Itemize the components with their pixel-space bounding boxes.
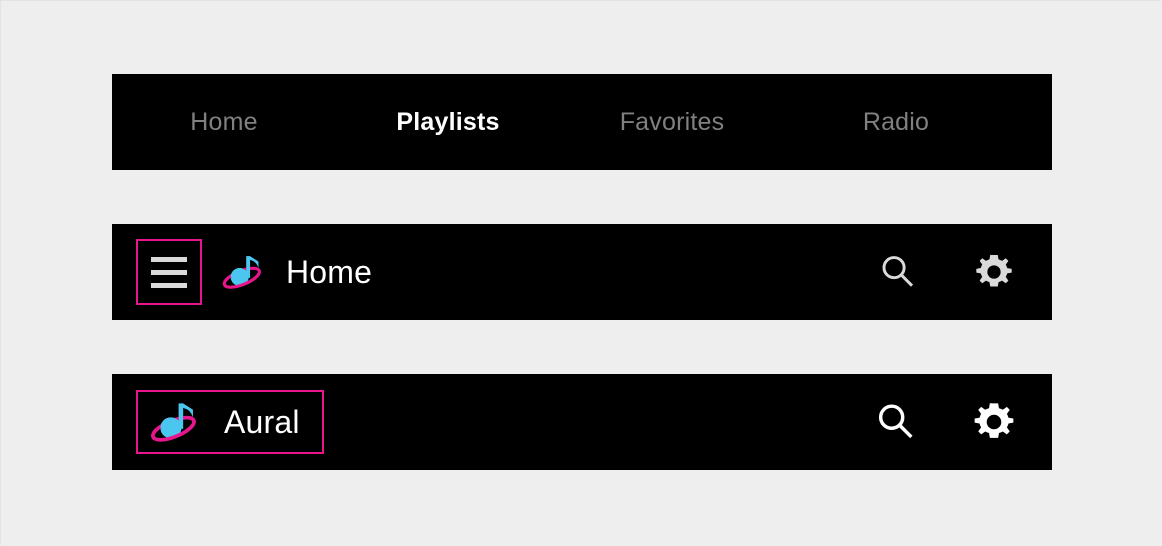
app-bar-title: Home [286, 254, 372, 291]
brand-title: Aural [224, 404, 300, 441]
brand-logo-button[interactable]: Aural [136, 390, 324, 454]
brand-bar: Aural [112, 374, 1052, 470]
hamburger-line-3 [151, 283, 187, 288]
tab-home[interactable]: Home [112, 108, 336, 137]
aural-logo-icon [220, 248, 268, 296]
search-button[interactable] [870, 396, 922, 448]
tab-favorites[interactable]: Favorites [560, 108, 784, 137]
settings-button[interactable] [968, 396, 1020, 448]
gear-icon [973, 251, 1015, 293]
hamburger-line-1 [151, 257, 187, 262]
gear-icon [971, 399, 1017, 445]
search-button[interactable] [874, 248, 922, 296]
settings-button[interactable] [970, 248, 1018, 296]
search-icon [877, 251, 919, 293]
app-bar: Home [112, 224, 1052, 320]
tab-playlists[interactable]: Playlists [336, 108, 560, 137]
tab-radio[interactable]: Radio [784, 108, 1008, 137]
top-navigation-bar: Home Playlists Favorites Radio [112, 74, 1052, 170]
hamburger-menu-button[interactable] [136, 239, 202, 305]
hamburger-line-2 [151, 270, 187, 275]
aural-logo-icon [148, 394, 204, 450]
search-icon [873, 399, 919, 445]
